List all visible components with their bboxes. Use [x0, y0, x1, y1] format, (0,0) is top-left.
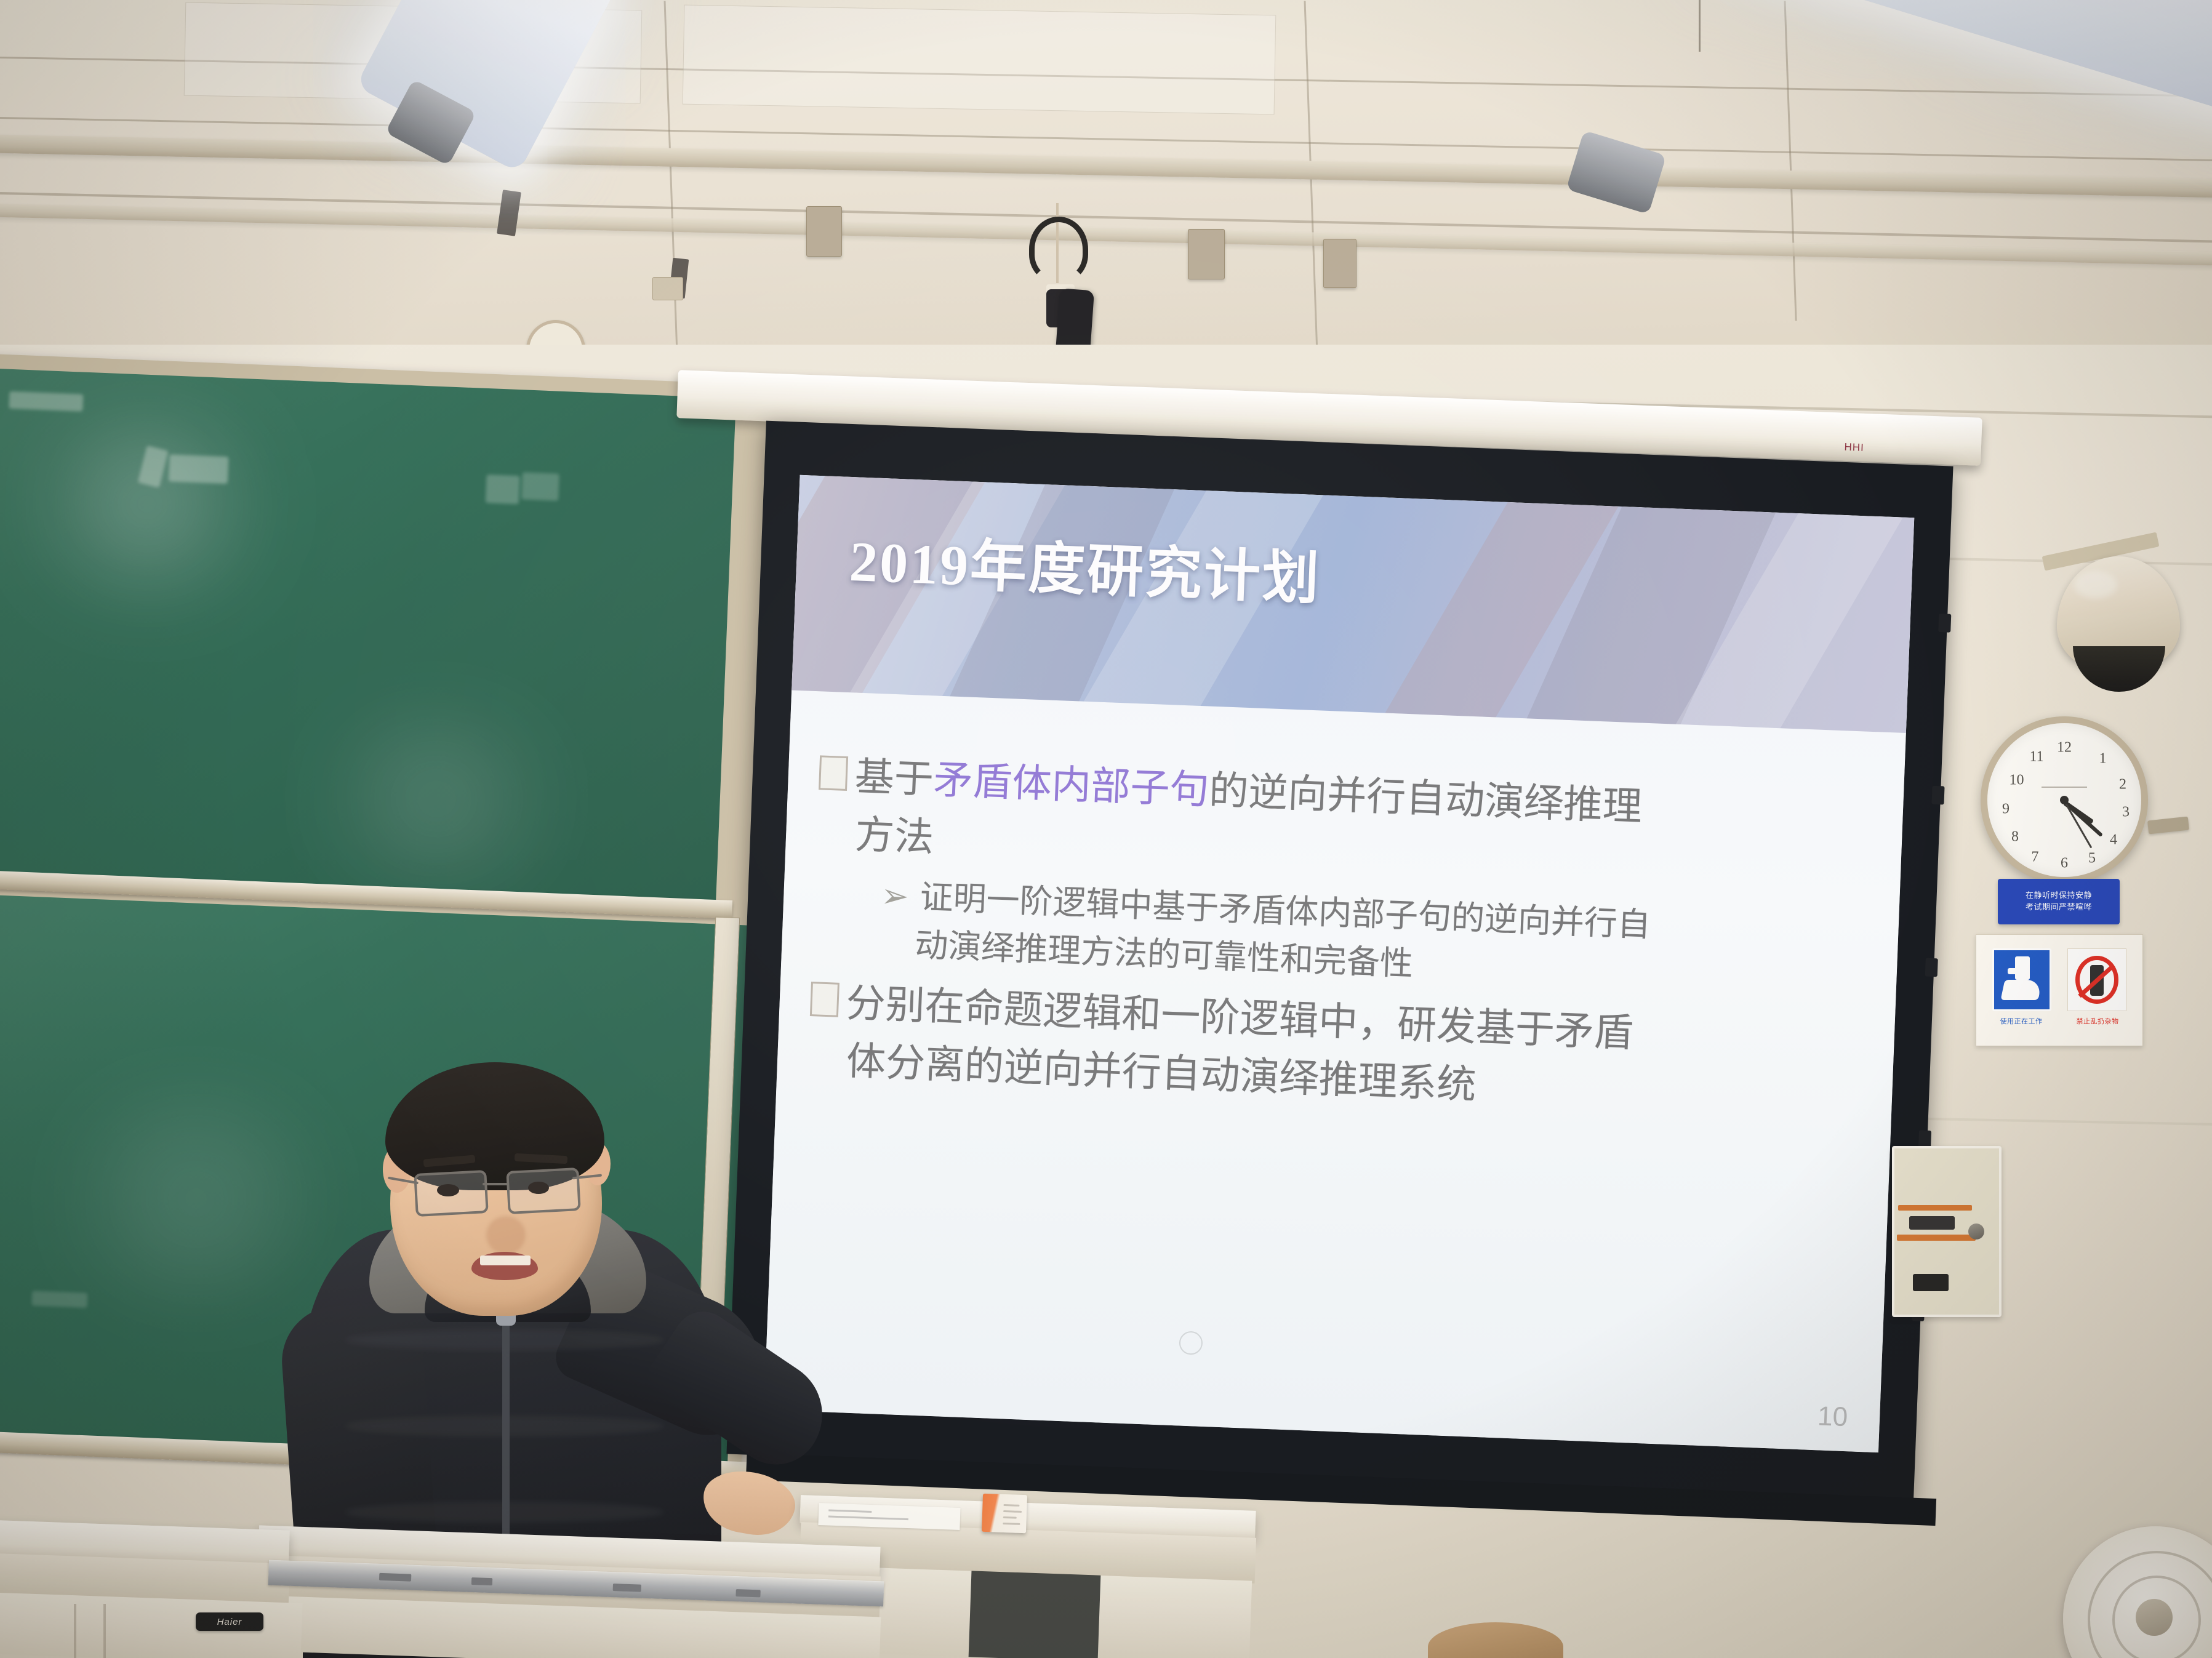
clock-center-pin — [2060, 796, 2069, 804]
blue-sign-line-2: 考试期间严禁喧哗 — [2026, 902, 2092, 913]
classroom-photo: HHI 2019年度研究计划 — [0, 0, 2212, 1658]
blue-instruction-sign: 在静听时保持安静 考试期间严禁喧哗 — [1998, 879, 2120, 924]
projector-screen-border: 2019年度研究计划 基于矛盾体内部子句的逆向并行自动演绎推理 方法 ➢ 证明一… — [726, 421, 1953, 1500]
light-wire-right-a — [1699, 0, 1701, 52]
slide-body: 基于矛盾体内部子句的逆向并行自动演绎推理 方法 ➢ 证明一阶逻辑中基于矛盾体内部… — [801, 747, 1884, 1129]
chalk-box[interactable] — [982, 1494, 1027, 1533]
clock-numeral-12: 12 — [2057, 740, 2072, 756]
clock-numeral-5: 5 — [2088, 851, 2096, 867]
blue-sign-line-1: 在静听时保持安静 — [2026, 890, 2092, 902]
ceiling-junction-box-3 — [1323, 239, 1356, 288]
prohibition-caption: 禁止乱扔杂物 — [2059, 1016, 2136, 1026]
clock-numeral-1: 1 — [2099, 750, 2107, 767]
clock-numeral-7: 7 — [2032, 849, 2039, 865]
clock-numeral-11: 11 — [2029, 749, 2043, 766]
strap-loop — [1029, 217, 1088, 282]
arrow-right-icon: ➢ — [880, 873, 910, 921]
screen-case-logo: HHI — [1844, 441, 1864, 454]
slide-header-band: 2019年度研究计划 — [791, 475, 1914, 733]
bullet-1-seg-1: 基于 — [854, 748, 934, 808]
clock-numeral-10: 10 — [2010, 772, 2024, 788]
panel-id-tag — [1913, 1274, 1949, 1291]
prohibition-pictogram — [2067, 948, 2126, 1011]
speaker-left-eye — [437, 1184, 459, 1196]
clock-numeral-2: 2 — [2119, 777, 2126, 793]
clock-brand-line — [2042, 787, 2087, 788]
podium-nameplate: Haier — [196, 1612, 263, 1631]
panel-switch-row[interactable] — [1909, 1216, 1955, 1230]
slide-page-number: 10 — [1817, 1401, 1848, 1433]
bullet-1-seg-2-highlight: 矛盾体内部子句 — [932, 751, 1210, 818]
panel-lock-knob[interactable] — [1968, 1223, 1984, 1239]
clock-numeral-9: 9 — [2002, 801, 2010, 818]
speaker-nose — [486, 1216, 526, 1254]
clock-numeral-3: 3 — [2122, 804, 2130, 821]
presentation-slide: 2019年度研究计划 基于矛盾体内部子句的逆向并行自动演绎推理 方法 ➢ 证明一… — [764, 475, 1914, 1452]
panel-label-strip-top — [1898, 1205, 1972, 1211]
podium-nameplate-text: Haier — [217, 1617, 242, 1627]
speaker-right-eye — [528, 1182, 549, 1194]
ceiling-junction-box-2 — [1188, 229, 1225, 279]
ceiling-junction-box — [806, 206, 842, 257]
wash-hands-pictogram — [1992, 948, 2051, 1011]
slide-watermark-dot — [1179, 1331, 1203, 1355]
projector-screen-surface: 2019年度研究计划 基于矛盾体内部子句的逆向并行自动演绎推理 方法 ➢ 证明一… — [764, 475, 1914, 1452]
pictogram-board: 使用正在工作 禁止乱扔杂物 — [1976, 934, 2143, 1046]
panel-label-strip-bottom — [1897, 1235, 1976, 1241]
bullet-square-icon-1 — [819, 755, 848, 791]
ceiling-mount-plate — [652, 277, 683, 300]
wall-clock: 12 1 2 3 4 5 6 7 8 9 10 11 — [1981, 716, 2148, 884]
electrical-panel[interactable] — [1892, 1146, 2002, 1317]
clock-numeral-8: 8 — [2011, 829, 2019, 846]
ceiling — [0, 0, 2212, 394]
speaker-teeth — [480, 1256, 531, 1265]
bullet-square-icon-2 — [810, 982, 840, 1017]
clock-numeral-4: 4 — [2110, 832, 2117, 849]
cabinet-seam-2 — [103, 1604, 106, 1658]
podium-recess — [969, 1571, 1101, 1658]
cabinet-seam — [74, 1604, 76, 1658]
clock-numeral-6: 6 — [2061, 855, 2068, 871]
wash-hands-caption: 使用正在工作 — [1982, 1016, 2060, 1026]
blackboard-left-panel — [0, 367, 736, 902]
eyeglasses-bridge — [483, 1183, 508, 1185]
